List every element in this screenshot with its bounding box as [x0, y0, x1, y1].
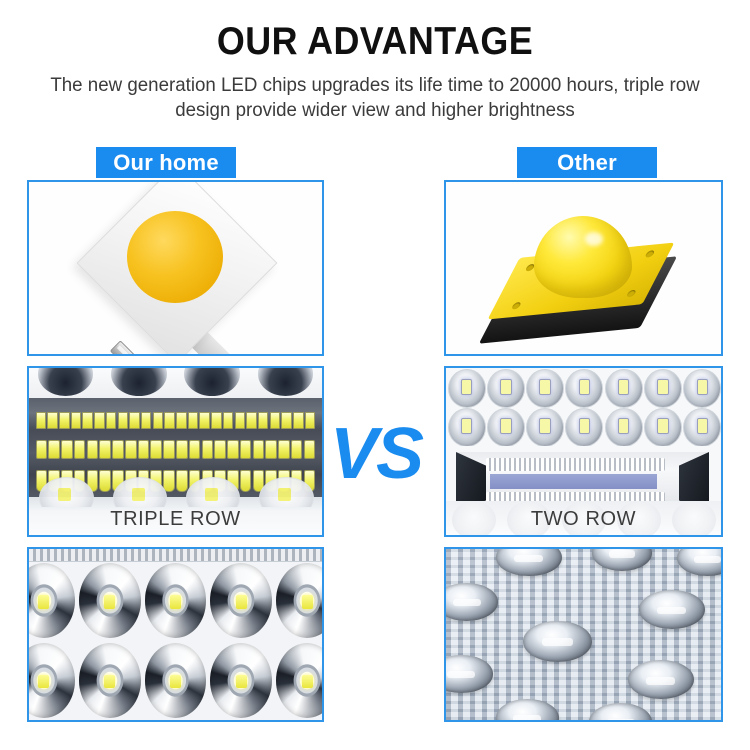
led-chip — [202, 440, 214, 459]
reflector-cup — [102, 368, 175, 402]
reflector-cup-grid — [29, 561, 322, 720]
led-chip — [125, 440, 137, 459]
reflector-cup — [564, 368, 603, 407]
led-chip — [129, 412, 140, 429]
led-chip — [150, 440, 162, 459]
photo-triple-row-strip: TRIPLE ROW — [29, 368, 322, 535]
led-chip — [71, 412, 82, 429]
led-chip — [118, 412, 129, 429]
reflector-cup — [143, 641, 209, 721]
led-chip — [164, 412, 175, 429]
reflector-cup — [274, 641, 322, 721]
led-chip — [36, 440, 48, 459]
reflector-bowl — [523, 621, 592, 662]
led-chip — [47, 412, 58, 429]
reflector-bowl — [589, 703, 652, 720]
led-chip — [270, 412, 281, 429]
reflector-cup — [446, 368, 485, 407]
led-chip-row-2 — [35, 440, 316, 459]
led-phosphor-circle — [127, 211, 223, 303]
led-chip — [106, 412, 117, 429]
led-chip — [94, 412, 105, 429]
led-chip — [214, 440, 226, 459]
reflector-cup — [102, 475, 175, 507]
led-chip — [176, 412, 187, 429]
led-chip — [253, 440, 265, 459]
reflector-bowl — [677, 549, 721, 576]
led-chip — [87, 440, 99, 459]
page-title: OUR ADVANTAGE — [30, 0, 720, 64]
led-chip — [189, 440, 201, 459]
led-chip — [176, 440, 188, 459]
led-contact-tab — [110, 340, 140, 354]
reflector-cup — [77, 561, 143, 641]
reflector-cup — [682, 407, 721, 446]
column-badge-other: Other — [517, 147, 657, 178]
led-chip — [141, 412, 152, 429]
reflector-bowl — [446, 583, 498, 621]
led-chip — [61, 440, 73, 459]
led-chip — [163, 440, 175, 459]
led-chip-row-1 — [35, 412, 316, 429]
led-chip — [293, 412, 304, 429]
led-chip — [278, 440, 290, 459]
led-chip — [246, 412, 257, 429]
led-chip — [48, 440, 60, 459]
led-chip — [153, 412, 164, 429]
reflector-cup — [249, 368, 322, 402]
led-chip — [281, 412, 292, 429]
reflector-cup — [642, 407, 681, 446]
reflector-cup — [208, 561, 274, 641]
reflector-cup — [274, 561, 322, 641]
reflector-cup — [525, 407, 564, 446]
vs-label: VS — [330, 413, 420, 495]
reflector-cup — [603, 368, 642, 407]
panel-our-home-triple-row: TRIPLE ROW — [27, 366, 324, 537]
caption-triple-row: TRIPLE ROW — [29, 508, 322, 531]
reflector-bowl — [496, 549, 562, 576]
reflector-bowl — [592, 549, 653, 571]
column-badge-our-home: Our home — [96, 147, 236, 178]
led-chip — [99, 440, 111, 459]
page-subtitle: The new generation LED chips upgrades it… — [39, 73, 711, 123]
photo-reflector-cup-grid — [29, 549, 322, 720]
reflector-cup — [603, 407, 642, 446]
led-chip — [223, 412, 234, 429]
led-chip — [258, 412, 269, 429]
header: OUR ADVANTAGE The new generation LED chi… — [0, 0, 750, 123]
led-chip — [240, 440, 252, 459]
reflector-cup — [77, 641, 143, 721]
led-chip — [211, 412, 222, 429]
panel-our-home-reflectors — [27, 547, 324, 722]
led-chip — [74, 440, 86, 459]
photo-two-row-strip: TWO ROW — [446, 368, 721, 535]
reflector-cup — [485, 368, 524, 407]
reflector-cup — [29, 561, 77, 641]
led-chip — [112, 440, 124, 459]
bar-teeth-top — [486, 458, 665, 471]
led-chip — [305, 412, 316, 429]
reflector-cup — [208, 641, 274, 721]
reflector-cup — [29, 368, 102, 402]
reflector-cup — [176, 475, 249, 507]
mounting-hole — [626, 290, 637, 298]
reflector-cup — [143, 561, 209, 641]
reflector-cup — [29, 475, 102, 507]
reflector-bowl — [628, 660, 694, 699]
photo-dome-led-chip — [446, 182, 721, 354]
reflector-cup — [564, 407, 603, 446]
led-chip — [304, 440, 316, 459]
led-chip — [138, 440, 150, 459]
reflector-cup — [642, 368, 681, 407]
photo-textured-heatsink — [446, 549, 721, 720]
panel-our-home-chip — [27, 180, 324, 356]
reflector-bowl — [446, 655, 493, 693]
led-chip — [235, 412, 246, 429]
reflector-row-bottom — [29, 475, 322, 507]
led-chip — [227, 440, 239, 459]
panel-other-chip — [444, 180, 723, 356]
reflector-bowl — [496, 699, 559, 720]
led-chip — [59, 412, 70, 429]
panel-other-reflectors — [444, 547, 723, 722]
reflector-cup — [485, 407, 524, 446]
reflector-cup — [446, 407, 485, 446]
caption-two-row: TWO ROW — [446, 508, 721, 531]
led-chip — [188, 412, 199, 429]
reflector-cup — [682, 368, 721, 407]
bar-blue-strip — [490, 474, 657, 489]
photo-smd-led-chip — [29, 182, 322, 354]
reflector-bowl — [639, 590, 705, 629]
led-chip — [36, 412, 47, 429]
led-chip — [265, 440, 277, 459]
led-chip — [82, 412, 93, 429]
mounting-hole — [511, 302, 522, 310]
mounting-hole — [644, 250, 655, 258]
reflector-row-top — [29, 368, 322, 402]
led-chip — [291, 440, 303, 459]
reflector-grid-two-rows — [446, 368, 721, 446]
reflector-cup — [249, 475, 322, 507]
reflector-cup — [176, 368, 249, 402]
reflector-cup — [525, 368, 564, 407]
panel-other-two-row: TWO ROW — [444, 366, 723, 537]
led-dome-lens — [534, 216, 632, 298]
led-chip — [199, 412, 210, 429]
reflector-cup — [29, 641, 77, 721]
